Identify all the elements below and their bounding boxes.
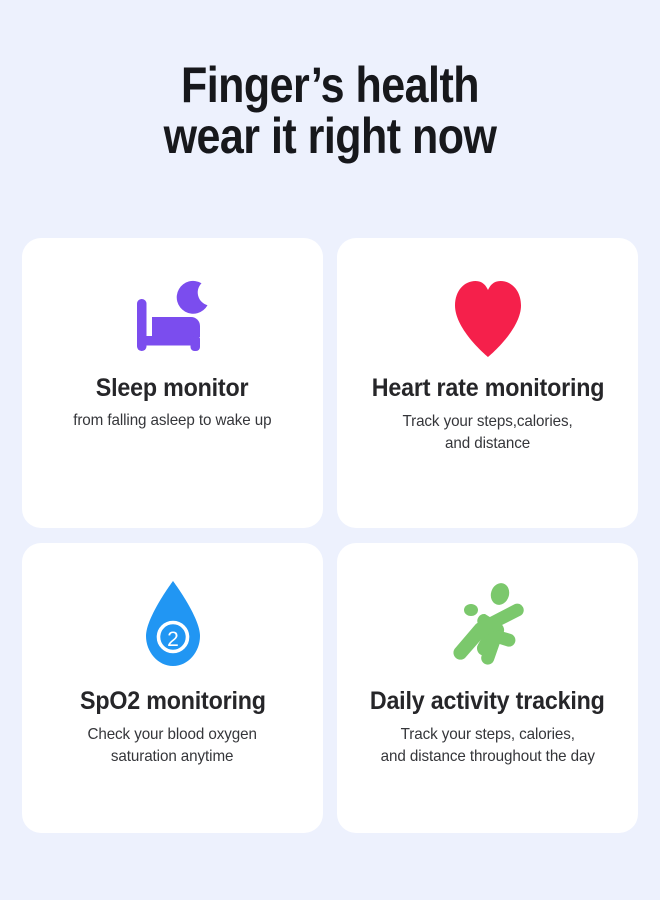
card-title: Daily activity tracking	[370, 687, 605, 715]
heart-icon	[451, 268, 525, 368]
card-subtitle: Track your steps,calories, and distance	[402, 411, 572, 455]
card-subtitle: Check your blood oxygen saturation anyti…	[88, 724, 257, 768]
card-subtitle: Track your steps, calories, and distance…	[380, 724, 594, 768]
card-subtitle: from falling asleep to wake up	[73, 410, 271, 432]
card-title: Sleep monitor	[96, 374, 249, 402]
feature-card-heart-rate: Heart rate monitoring Track your steps,c…	[337, 238, 638, 528]
feature-card-daily-activity: Daily activity tracking Track your steps…	[337, 543, 638, 833]
page-title-line-1: Finger’s health	[46, 60, 614, 111]
promo-page: Finger’s health wear it right now	[0, 0, 660, 900]
card-title: SpO2 monitoring	[80, 687, 266, 715]
drop-badge-label: 2	[167, 628, 179, 651]
page-title: Finger’s health wear it right now	[46, 60, 614, 162]
feature-card-grid: Sleep monitor from falling asleep to wak…	[22, 238, 638, 833]
bed-moon-icon	[131, 268, 215, 368]
feature-card-spo2: 2 SpO2 monitoring Check your blood oxyge…	[22, 543, 323, 833]
page-title-line-2: wear it right now	[46, 111, 614, 162]
running-person-icon	[449, 573, 527, 677]
feature-card-sleep-monitor: Sleep monitor from falling asleep to wak…	[22, 238, 323, 528]
water-drop-o2-icon: 2	[142, 573, 204, 677]
card-title: Heart rate monitoring	[371, 374, 604, 402]
